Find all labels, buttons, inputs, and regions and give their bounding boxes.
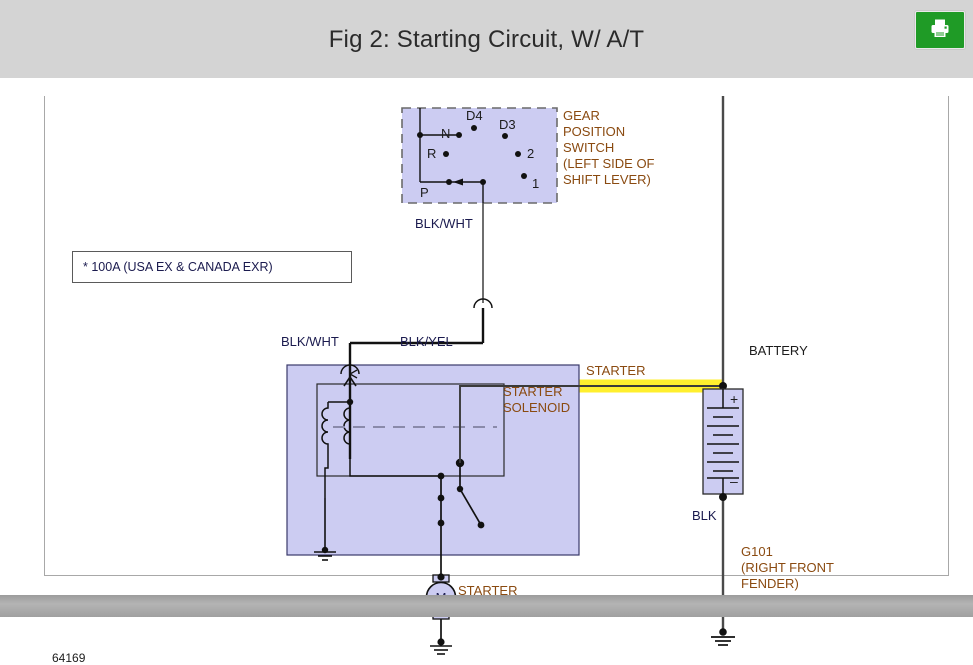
motor-feed-dot-rail	[438, 473, 445, 480]
diagram-canvas: M	[0, 78, 973, 595]
note-box: * 100A (USA EX & CANADA EXR)	[72, 251, 352, 283]
gear-position-label-d3: D3	[499, 117, 516, 132]
gear-position-label-n: N	[441, 126, 450, 141]
gear-position-switch-label-line4: (LEFT SIDE OF	[563, 156, 655, 171]
gear-position-label-2: 2	[527, 146, 534, 161]
solenoid-contact-fixed-dot	[478, 522, 485, 529]
page-title: Fig 2: Starting Circuit, W/ A/T	[0, 26, 973, 54]
battery-label: BATTERY	[749, 343, 808, 358]
print-button[interactable]	[915, 11, 965, 49]
schematic-drawing: M	[0, 78, 973, 595]
motor-ground-symbol	[430, 646, 452, 654]
header-bar: Fig 2: Starting Circuit, W/ A/T	[0, 0, 973, 78]
gear-position-switch-label-line2: POSITION	[563, 124, 625, 139]
solenoid-contact-pivot-dot	[457, 486, 463, 492]
gear-position-switch-label-line5: SHIFT LEVER)	[563, 172, 651, 187]
figure-number: 64169	[52, 651, 85, 665]
starter-solenoid-label-line1: STARTER	[503, 384, 562, 399]
motor-terminal-top-dot	[437, 573, 444, 580]
battery-positive-terminal-label: +	[730, 392, 738, 407]
gear-position-label-p: P	[420, 185, 429, 200]
starter-label: STARTER	[586, 363, 645, 378]
solenoid-ground-dot	[322, 547, 328, 553]
wire-label-blk-wht-lower: BLK/WHT	[281, 334, 339, 349]
ground-location-line2: FENDER)	[741, 576, 799, 591]
gear-position-switch-label-line3: SWITCH	[563, 140, 614, 155]
g101-dot	[719, 628, 727, 636]
gear-position-label-r: R	[427, 146, 436, 161]
diagram-viewer: Fig 2: Starting Circuit, W/ A/T	[0, 0, 973, 617]
printer-icon	[928, 17, 952, 44]
note-box-text: * 100A (USA EX & CANADA EXR)	[83, 260, 273, 274]
coil-junction-dot	[347, 399, 353, 405]
wire-label-blk-wht-upper: BLK/WHT	[415, 216, 473, 231]
ground-designation-label: G101	[741, 544, 773, 559]
battery-negative-node-dot	[719, 493, 727, 501]
wire-label-blk-yel: BLK/YEL	[400, 334, 453, 349]
wire-label-blk: BLK	[692, 508, 717, 523]
gear-position-switch-label-line1: GEAR	[563, 108, 600, 123]
ground-location-line1: (RIGHT FRONT	[741, 560, 834, 575]
g101-ground-symbol	[711, 637, 735, 645]
motor-feed-dot-mid	[438, 495, 445, 502]
battery-negative-terminal-label: –	[730, 474, 738, 489]
footer-strip	[0, 595, 973, 617]
motor-feed-dot-upper	[438, 520, 445, 527]
starter-solenoid-label-line2: SOLENOID	[503, 400, 570, 415]
gear-position-label-d4: D4	[466, 108, 483, 123]
motor-terminal-bottom-dot	[437, 638, 444, 645]
gear-position-label-1: 1	[532, 176, 539, 191]
